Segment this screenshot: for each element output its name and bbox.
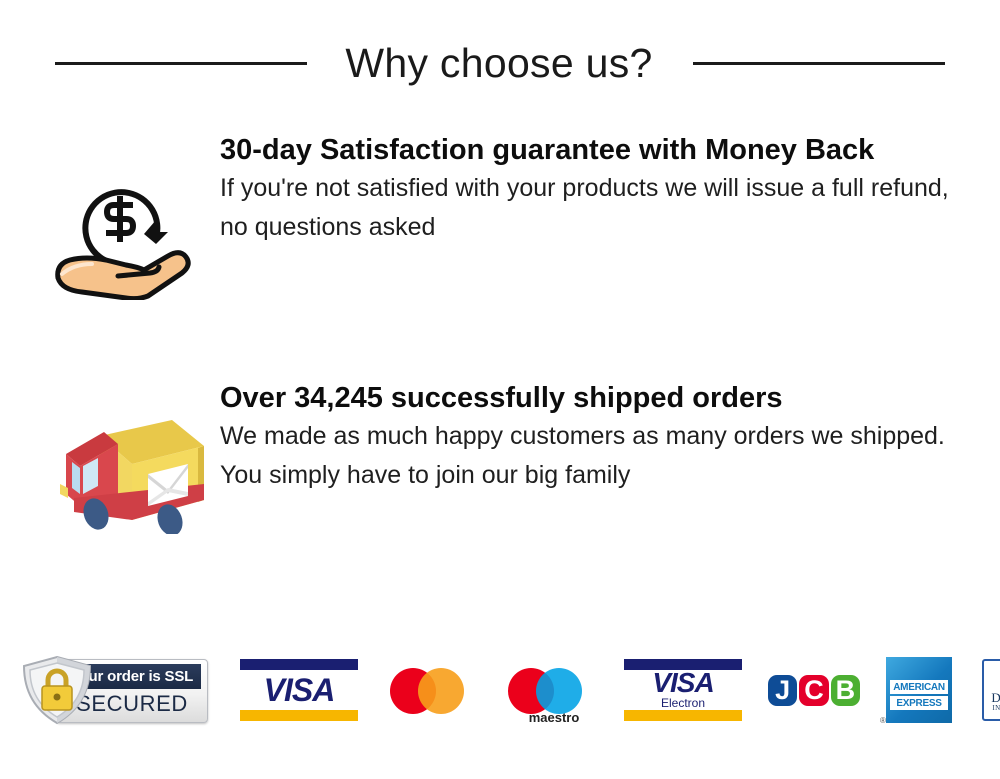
- jcb-block-j: J: [768, 675, 797, 706]
- amex-line-american: AMERICAN: [890, 680, 948, 694]
- payment-badges-strip: Your order is SSL SECURED VISA maestro: [0, 640, 1000, 740]
- diners-club-subtext: INTERNATIONAL: [984, 704, 1000, 712]
- feature-text-shipped-orders: Over 34,245 successfully shipped orders …: [202, 380, 982, 495]
- american-express-badge: AMERICAN EXPRESS ®: [886, 657, 952, 723]
- feature-money-back: 30-day Satisfaction guarantee with Money…: [52, 132, 972, 300]
- mastercard-badge: [388, 659, 484, 721]
- visa-electron-subtext: Electron: [624, 696, 742, 710]
- visa-electron-badge: VISA Electron: [624, 659, 742, 721]
- visa-wordmark: VISA: [240, 671, 358, 709]
- visa-badge: VISA: [240, 659, 358, 721]
- header-rule-left: [55, 62, 307, 65]
- feature-shipped-orders: Over 34,245 successfully shipped orders …: [52, 380, 982, 534]
- amex-registered-mark: ®: [880, 716, 886, 725]
- money-back-hand-icon: [52, 160, 202, 300]
- jcb-block-c: C: [799, 675, 828, 706]
- maestro-wordmark: maestro: [506, 710, 602, 725]
- ssl-secured-badge: Your order is SSL SECURED: [18, 654, 206, 726]
- header-rule-right: [693, 62, 945, 65]
- maestro-badge: maestro: [506, 659, 602, 721]
- feature-body: We made as much happy customers as many …: [220, 417, 982, 495]
- jcb-badge: J C B: [768, 660, 860, 720]
- visa-electron-wordmark: VISA: [624, 668, 742, 698]
- amex-line-express: EXPRESS: [890, 696, 948, 710]
- feature-body: If you're not satisfied with your produc…: [220, 169, 972, 247]
- jcb-block-b: B: [831, 675, 860, 706]
- visa-electron-bottom-bar: [624, 710, 742, 721]
- visa-bottom-bar: [240, 710, 358, 721]
- mastercard-orange-circle: [418, 668, 464, 714]
- diners-club-badge: Diners Club INTERNATIONAL: [982, 659, 1000, 721]
- section-header: Why choose us?: [0, 28, 1000, 98]
- visa-top-bar: [240, 659, 358, 670]
- shield-icon: [18, 654, 96, 726]
- delivery-truck-icon: [52, 402, 202, 534]
- feature-title: 30-day Satisfaction guarantee with Money…: [220, 132, 972, 169]
- feature-title: Over 34,245 successfully shipped orders: [220, 380, 982, 417]
- maestro-blue-circle: [536, 668, 582, 714]
- feature-text-money-back: 30-day Satisfaction guarantee with Money…: [202, 132, 972, 247]
- page-title: Why choose us?: [345, 43, 652, 84]
